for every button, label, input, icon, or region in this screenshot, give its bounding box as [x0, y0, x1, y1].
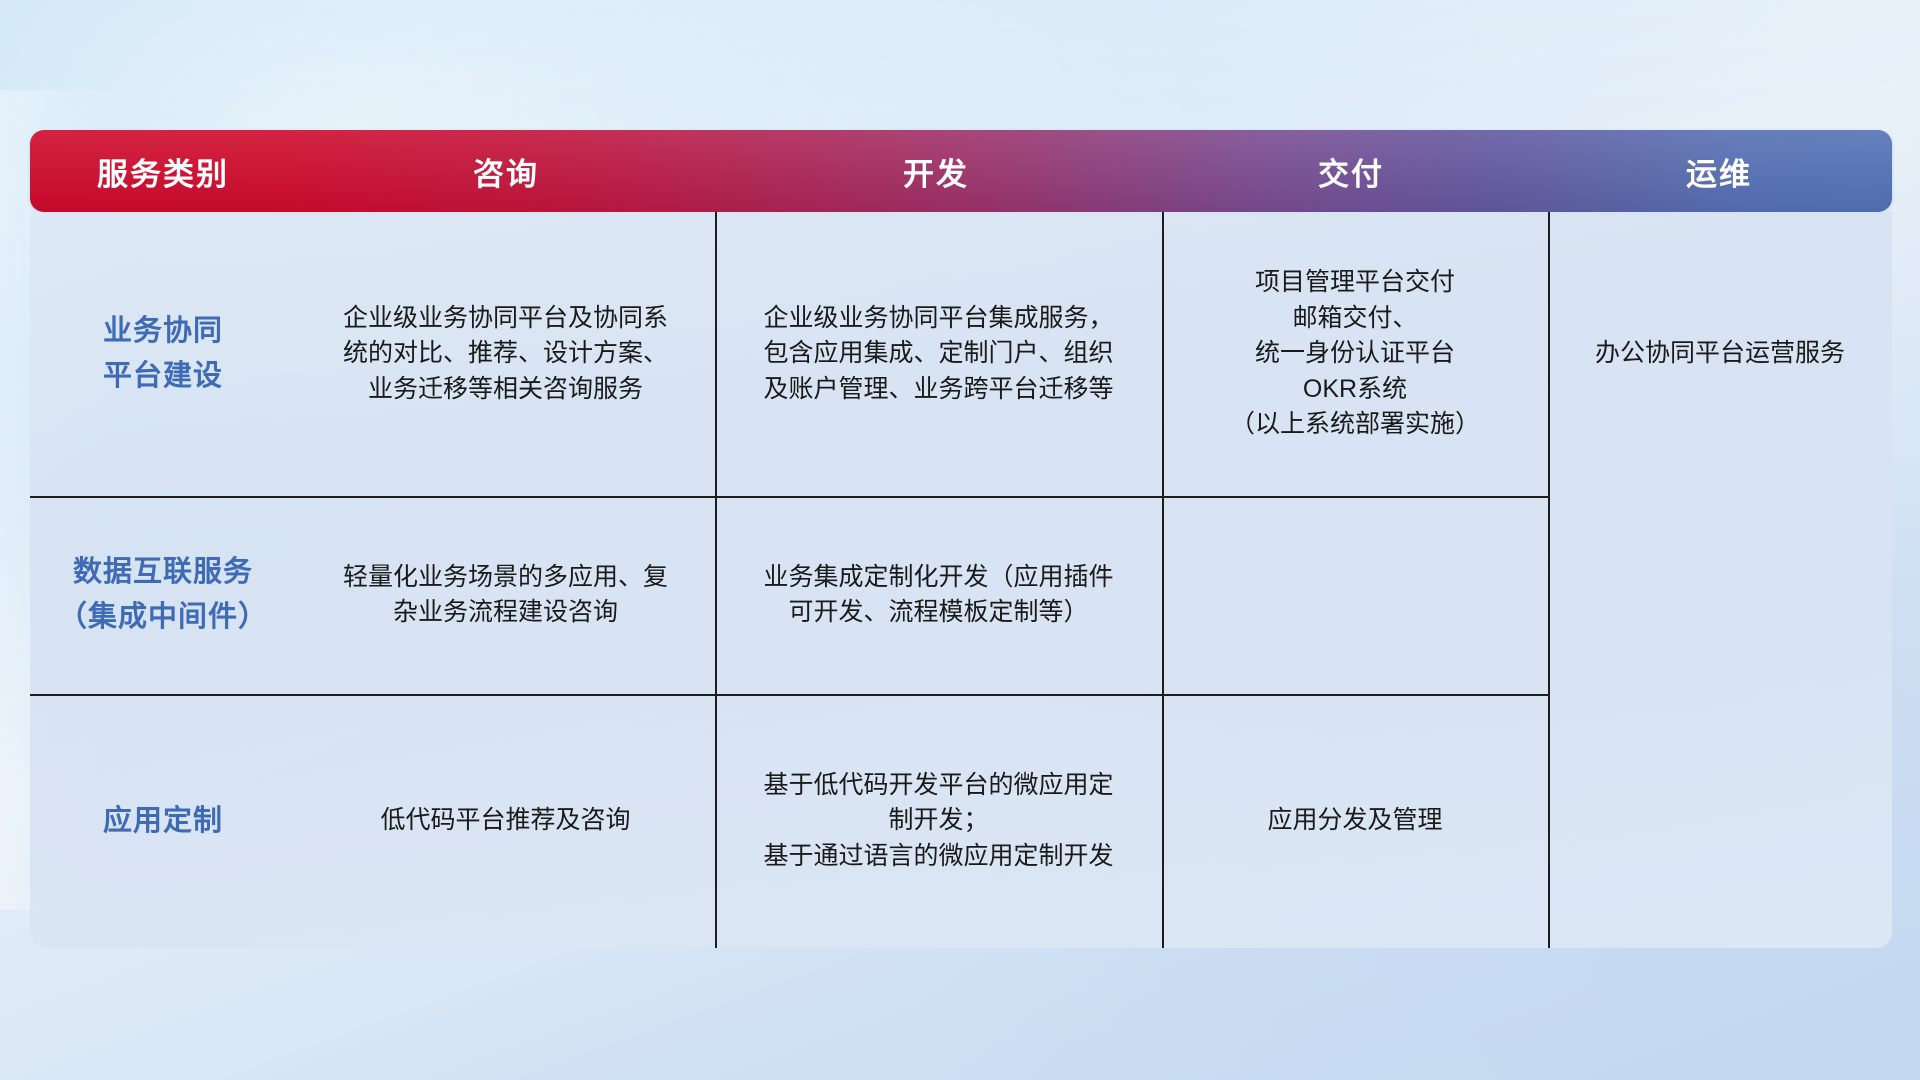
cell-row3-delivery: 应用分发及管理: [1162, 803, 1548, 839]
cell-row3-consulting: 低代码平台推荐及咨询: [296, 803, 715, 839]
column-header-consulting: 咨询: [296, 149, 716, 194]
column-header-operations: 运维: [1546, 149, 1892, 194]
table-row: 数据互联服务 （集成中间件） 轻量化业务场景的多应用、复 杂业务流程建设咨询 业…: [30, 496, 1892, 694]
cell-row1-delivery: 项目管理平台交付 邮箱交付、 统一身份认证平台 OKR系统 （以上系统部署实施）: [1162, 265, 1548, 443]
service-matrix-table: 服务类别 咨询 开发 交付 运维 业务协同 平台建设 企业级业务协同平台及协同系…: [30, 130, 1892, 948]
cell-row3-development: 基于低代码开发平台的微应用定 制开发； 基于通过语言的微应用定制开发: [715, 768, 1162, 875]
cell-row1-consulting: 企业级业务协同平台及协同系 统的对比、推荐、设计方案、 业务迁移等相关咨询服务: [296, 301, 715, 408]
table-row: 业务协同 平台建设 企业级业务协同平台及协同系 统的对比、推荐、设计方案、 业务…: [30, 212, 1892, 496]
row-label-app-customization: 应用定制: [30, 799, 296, 844]
table-body: 业务协同 平台建设 企业级业务协同平台及协同系 统的对比、推荐、设计方案、 业务…: [30, 212, 1892, 948]
cell-row2-development: 业务集成定制化开发（应用插件 可开发、流程模板定制等）: [715, 560, 1162, 631]
table-header-row: 服务类别 咨询 开发 交付 运维: [30, 130, 1892, 212]
column-header-category: 服务类别: [30, 149, 296, 194]
column-header-development: 开发: [716, 149, 1156, 194]
column-header-delivery: 交付: [1156, 149, 1546, 194]
row-label-business-collaboration: 业务协同 平台建设: [30, 309, 296, 399]
cell-row1-operations: 办公协同平台运营服务: [1548, 336, 1892, 372]
table-row: 应用定制 低代码平台推荐及咨询 基于低代码开发平台的微应用定 制开发； 基于通过…: [30, 694, 1892, 948]
cell-row2-consulting: 轻量化业务场景的多应用、复 杂业务流程建设咨询: [296, 560, 715, 631]
cell-row1-development: 企业级业务协同平台集成服务， 包含应用集成、定制门户、组织 及账户管理、业务跨平…: [715, 301, 1162, 408]
row-label-data-interconnect: 数据互联服务 （集成中间件）: [30, 550, 296, 640]
